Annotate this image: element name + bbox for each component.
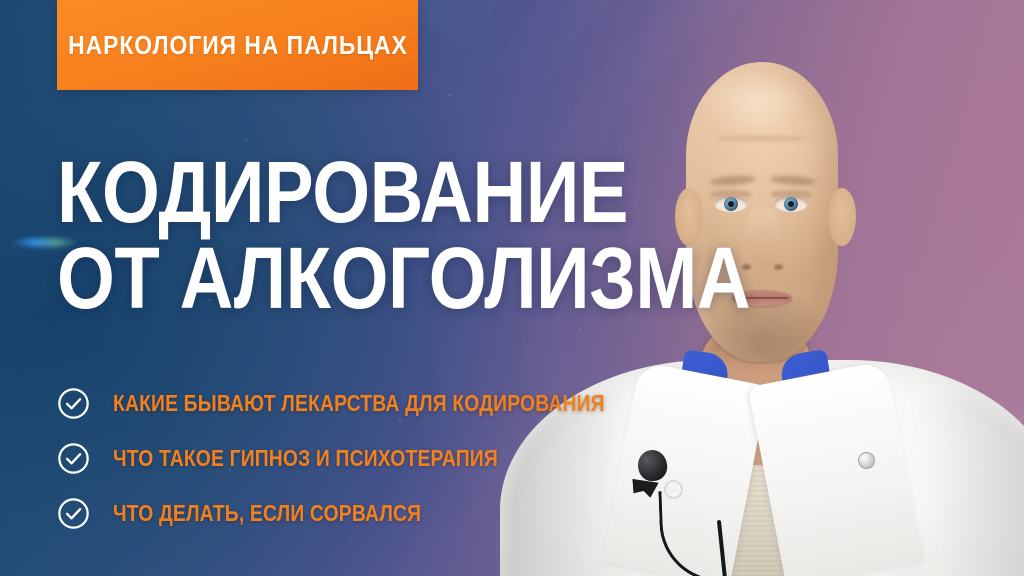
list-item: КАКИЕ БЫВАЮТ ЛЕКАРСТВА ДЛЯ КОДИРОВАНИЯ [57,386,698,420]
check-circle-icon [57,442,90,475]
category-banner-label: НАРКОЛОГИЯ НА ПАЛЬЦАХ [68,30,408,61]
video-thumbnail: НАРКОЛОГИЯ НА ПАЛЬЦАХ КОДИРОВАНИЕ ОТ АЛК… [0,0,1024,576]
category-banner: НАРКОЛОГИЯ НА ПАЛЬЦАХ [57,0,418,90]
title-line-2: ОТ АЛКОГОЛИЗМА [57,236,750,322]
list-item-label: ЧТО ДЕЛАТЬ, ЕСЛИ СОРВАЛСЯ [113,500,421,527]
check-circle-icon [57,497,90,530]
list-item-label: КАКИЕ БЫВАЮТ ЛЕКАРСТВА ДЛЯ КОДИРОВАНИЯ [113,390,605,417]
list-item: ЧТО ТАКОЕ ГИПНОЗ И ПСИХОТЕРАПИЯ [57,441,698,475]
head-highlight [708,72,804,130]
bullet-list: КАКИЕ БЫВАЮТ ЛЕКАРСТВА ДЛЯ КОДИРОВАНИЯ Ч… [57,386,698,551]
list-item-label: ЧТО ТАКОЕ ГИПНОЗ И ПСИХОТЕРАПИЯ [113,445,498,472]
check-circle-icon [57,387,90,420]
page-title: КОДИРОВАНИЕ ОТ АЛКОГОЛИЗМА [57,150,868,322]
title-line-1: КОДИРОВАНИЕ [57,150,750,236]
coat-button [858,452,875,469]
forehead-crease [716,136,808,141]
list-item: ЧТО ДЕЛАТЬ, ЕСЛИ СОРВАЛСЯ [57,496,698,530]
